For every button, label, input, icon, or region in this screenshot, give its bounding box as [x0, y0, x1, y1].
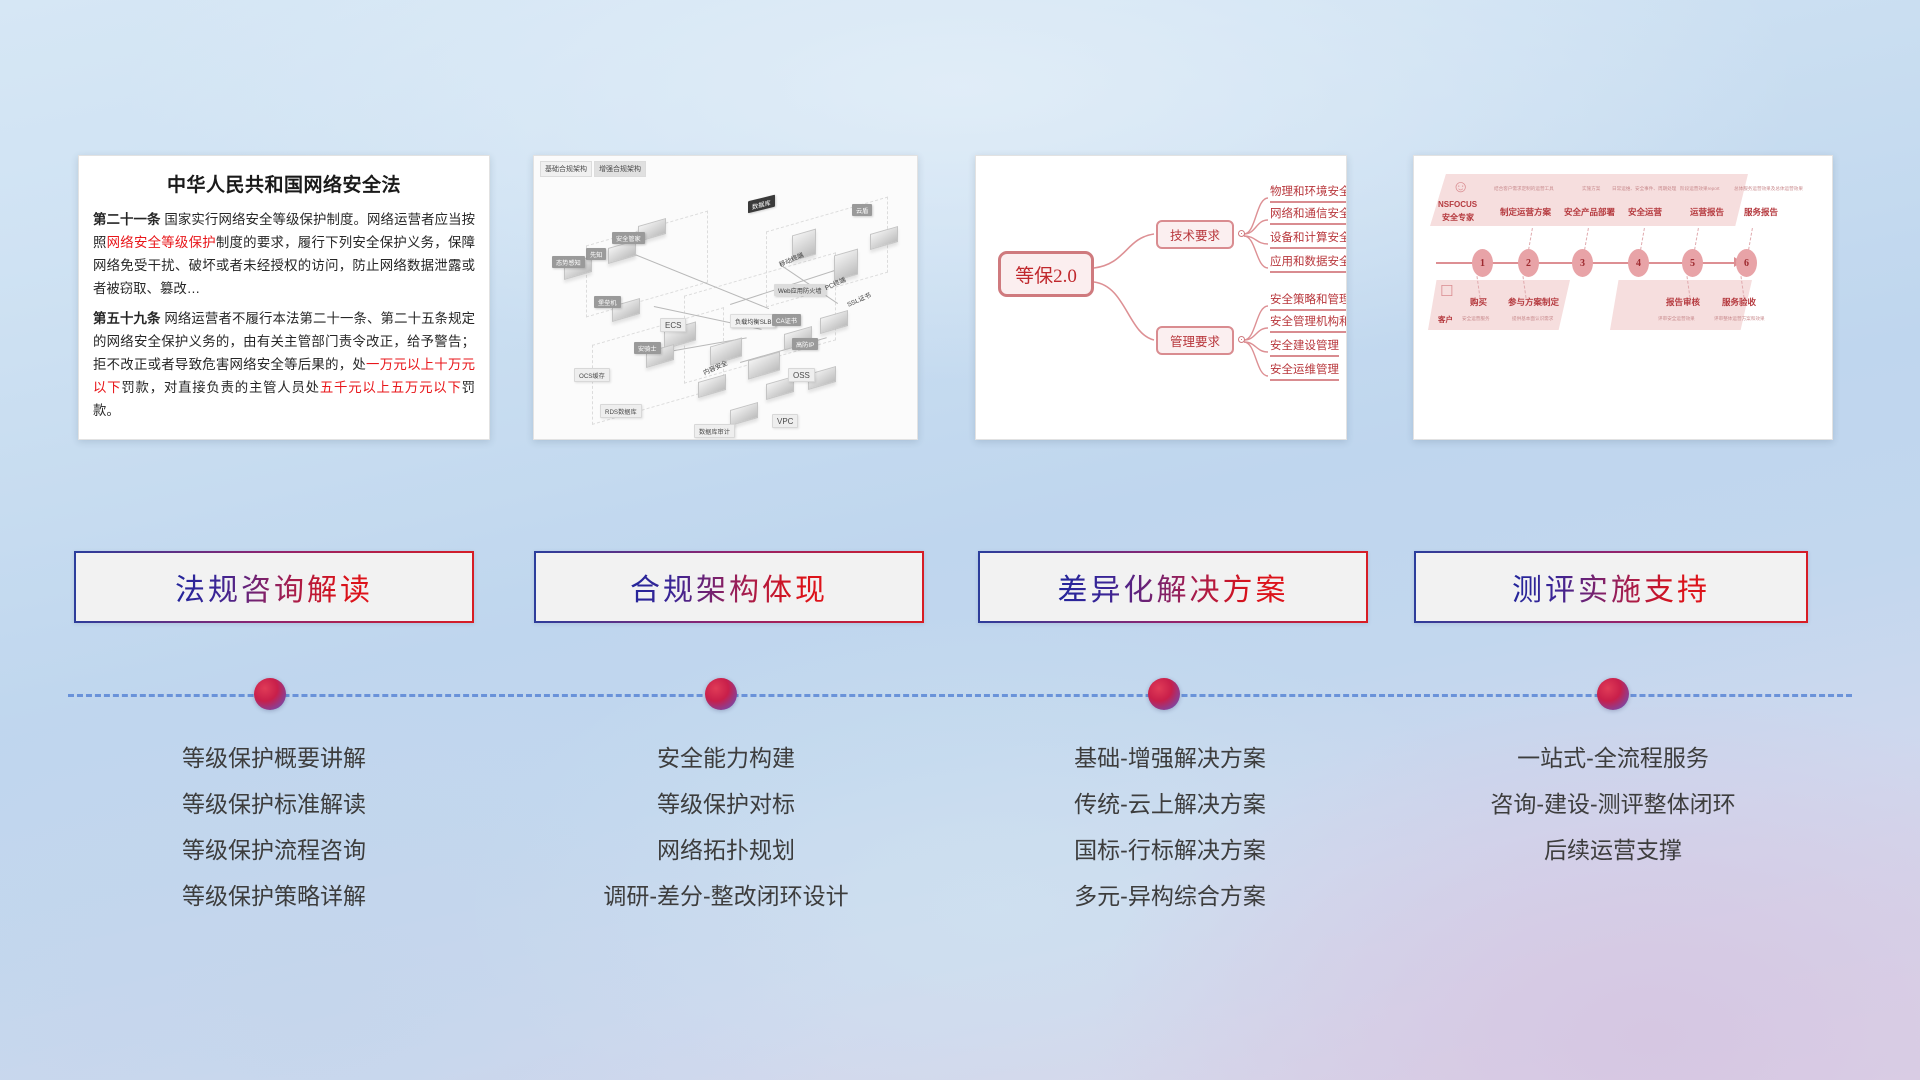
customer-avatar-icon: ☐	[1440, 284, 1453, 299]
rail-dot-4[interactable]	[1597, 678, 1629, 710]
timeline-connector	[1640, 228, 1646, 250]
plate-regulation-consulting[interactable]: 法规咨询解读	[74, 551, 474, 623]
architecture-tabs[interactable]: 基础合规架构 增强合规架构	[540, 161, 646, 177]
arch-node-label: SSL证书	[845, 289, 872, 308]
plate-label: 合规架构体现	[630, 565, 828, 609]
mindmap-card[interactable]: 等保2.0 技术要求 管理要求	[975, 155, 1347, 440]
architecture-canvas: 基础合规架构 增强合规架构	[534, 156, 917, 439]
timeline-step-sub: 评审整体运营方案和效果	[1714, 316, 1765, 322]
arch-node-label: ECS	[660, 318, 686, 332]
mindmap-branch-management[interactable]: 管理要求	[1156, 326, 1234, 355]
arch-node-label: 云盾	[852, 204, 872, 216]
law-card[interactable]: 中华人民共和国网络安全法 第二十一条 国家实行网络安全等级保护制度。网络运营者应…	[78, 155, 490, 440]
arch-node-label: OSS	[788, 368, 815, 382]
timeline-step-main: 服务报告	[1744, 206, 1778, 218]
timeline-connector	[1748, 228, 1754, 250]
arch-node-label: 高防IP	[792, 338, 818, 350]
timeline-step-sub: 总体服务运营效果及总体运营效果	[1734, 186, 1803, 192]
mindmap-canvas: 等保2.0 技术要求 管理要求	[976, 156, 1346, 439]
mindmap-leaf[interactable]: 安全建设管理	[1270, 340, 1339, 357]
timeline-connector	[1694, 228, 1700, 250]
list-item: 等级保护标准解读	[74, 781, 474, 827]
list-item: 一站式-全流程服务	[1413, 735, 1813, 781]
list-item: 安全能力构建	[526, 735, 926, 781]
mindmap-branch-technical[interactable]: 技术要求	[1156, 220, 1234, 249]
timeline-step-main: 参与方案制定	[1508, 296, 1559, 308]
arch-node-label: 安骑士	[634, 342, 661, 354]
rail-dot-2[interactable]	[705, 678, 737, 710]
timeline-step-sub: 评审安全运营效果	[1658, 316, 1695, 322]
list-item: 等级保护流程咨询	[74, 827, 474, 873]
column-1-list: 等级保护概要讲解 等级保护标准解读 等级保护流程咨询 等级保护策略详解	[74, 735, 474, 919]
timeline-node[interactable]: 5	[1682, 249, 1703, 277]
mindmap-leaf[interactable]: 安全管理机构和人员	[1270, 316, 1347, 333]
timeline-step-sub: 日常运维、安全事件、周期处理	[1612, 186, 1676, 192]
rail-dot-3[interactable]	[1148, 678, 1180, 710]
column-4-list: 一站式-全流程服务 咨询-建设-测评整体闭环 后续运营支撑	[1413, 735, 1813, 873]
column-2-list: 安全能力构建 等级保护对标 网络拓扑规划 调研-差分-整改闭环设计	[526, 735, 926, 919]
plate-assessment-support[interactable]: 测评实施支持	[1414, 551, 1808, 623]
architecture-tab-basic[interactable]: 基础合规架构	[540, 161, 592, 177]
timeline-step-main: 制定运营方案	[1500, 206, 1551, 218]
timeline-node[interactable]: 3	[1572, 249, 1593, 277]
list-item: 基础-增强解决方案	[970, 735, 1370, 781]
timeline-step-sub: 安全运营服务	[1462, 316, 1490, 322]
timeline-step-main: 购买	[1470, 296, 1487, 308]
mindmap-branch-label: 管理要求	[1170, 331, 1220, 350]
expert-name-line1: NSFOCUS	[1438, 200, 1477, 209]
law-run-2-3: 五千元以上五万元以下	[320, 380, 462, 395]
arch-node-label: 安全管家	[612, 232, 645, 244]
timeline-card[interactable]: ☺ NSFOCUS 安全专家 结合客户需求定制的运营工具 制定运营方案 实施方案…	[1413, 155, 1833, 440]
arch-node-label: 堡垒机	[594, 296, 621, 308]
list-item: 国标-行标解决方案	[970, 827, 1370, 873]
mindmap-leaf[interactable]: 网络和通信安全	[1270, 208, 1347, 225]
timeline-step-main: 服务验收	[1722, 296, 1756, 308]
timeline-step-main: 安全运营	[1628, 206, 1662, 218]
law-run-2-2: 罚款，对直接负责的主管人员处	[121, 380, 319, 395]
list-item: 后续运营支撑	[1413, 827, 1813, 873]
timeline-node[interactable]: 1	[1472, 249, 1493, 277]
arch-node-label: VPC	[772, 414, 798, 428]
customer-name: 客户	[1438, 314, 1453, 325]
law-paragraph-2: 第五十九条 网络运营者不履行本法第二十一条、第二十五条规定的网络安全保护义务的，…	[93, 307, 475, 422]
list-item: 咨询-建设-测评整体闭环	[1413, 781, 1813, 827]
arch-node-label: 先知	[586, 248, 606, 260]
arch-node-label: 负载均衡SLB	[730, 314, 776, 328]
iso-cube	[730, 402, 758, 426]
law-run-1-1: 网络安全等级保护	[107, 235, 216, 250]
arch-node-label: 数据库审计	[694, 424, 735, 438]
timeline-canvas: ☺ NSFOCUS 安全专家 结合客户需求定制的运营工具 制定运营方案 实施方案…	[1414, 156, 1832, 439]
timeline-step-sub: 结合客户需求定制的运营工具	[1494, 186, 1554, 192]
list-item: 传统-云上解决方案	[970, 781, 1370, 827]
timeline-top-band	[1430, 174, 1748, 226]
timeline-step-main: 安全产品部署	[1564, 206, 1615, 218]
expert-name-line2: 安全专家	[1442, 212, 1474, 223]
timeline-step-sub: 实施方案	[1582, 186, 1600, 192]
mindmap-collapse-icon[interactable]	[1238, 336, 1245, 343]
plate-label: 法规咨询解读	[175, 565, 373, 609]
architecture-card[interactable]: 基础合规架构 增强合规架构	[533, 155, 918, 440]
mindmap-collapse-icon[interactable]	[1238, 230, 1245, 237]
list-item: 等级保护策略详解	[74, 873, 474, 919]
list-item: 调研-差分-整改闭环设计	[526, 873, 926, 919]
timeline-node[interactable]: 2	[1518, 249, 1539, 277]
expert-avatar-icon: ☺	[1452, 178, 1469, 195]
arch-node-label: 态势感知	[552, 256, 585, 268]
law-card-body: 第二十一条 国家实行网络安全等级保护制度。网络运营者应当按照网络安全等级保护制度…	[79, 208, 489, 422]
law-article-label-1: 第二十一条	[93, 212, 161, 227]
arch-node-label: RDS数据库	[600, 404, 642, 418]
arch-node-label: OCS缓存	[574, 368, 610, 382]
list-item: 多元-异构综合方案	[970, 873, 1370, 919]
timeline-step-sub: 提供基本面认识需求	[1512, 316, 1553, 322]
arch-node-label: 数据库	[748, 195, 775, 214]
arch-node-label: Web应用防火墙	[774, 284, 826, 296]
timeline-node[interactable]: 4	[1628, 249, 1649, 277]
timeline-node[interactable]: 6	[1736, 249, 1757, 277]
plate-label: 测评实施支持	[1512, 565, 1710, 609]
column-3-list: 基础-增强解决方案 传统-云上解决方案 国标-行标解决方案 多元-异构综合方案	[970, 735, 1370, 919]
mindmap-leaf[interactable]: 应用和数据安全	[1270, 256, 1347, 273]
law-article-label-2: 第五十九条	[93, 311, 161, 326]
list-item: 等级保护概要讲解	[74, 735, 474, 781]
timeline-step-sub: 阶段运营效果report	[1680, 186, 1720, 192]
mindmap-leaf[interactable]: 物理和环境安全	[1270, 186, 1347, 203]
plate-compliance-architecture[interactable]: 合规架构体现	[534, 551, 924, 623]
architecture-tab-enhanced[interactable]: 增强合规架构	[594, 161, 646, 177]
plate-differentiated-solution[interactable]: 差异化解决方案	[978, 551, 1368, 623]
arch-node-label: CA证书	[772, 314, 801, 326]
mindmap-leaf[interactable]: 安全策略和管理制度	[1270, 294, 1347, 311]
slide-root: 中华人民共和国网络安全法 第二十一条 国家实行网络安全等级保护制度。网络运营者应…	[0, 0, 1920, 1080]
timeline-step-main: 报告审核	[1666, 296, 1700, 308]
plate-label: 差异化解决方案	[1058, 565, 1289, 609]
law-card-title: 中华人民共和国网络安全法	[79, 170, 489, 197]
mindmap-branch-label: 技术要求	[1170, 225, 1220, 244]
list-item: 等级保护对标	[526, 781, 926, 827]
timeline-connector	[1584, 228, 1590, 250]
mindmap-leaf[interactable]: 安全运维管理	[1270, 364, 1339, 381]
timeline-step-main: 运营报告	[1690, 206, 1724, 218]
list-item: 网络拓扑规划	[526, 827, 926, 873]
timeline-rail	[68, 694, 1852, 697]
rail-dot-1[interactable]	[254, 678, 286, 710]
mindmap-leaf[interactable]: 设备和计算安全	[1270, 232, 1347, 249]
law-paragraph-1: 第二十一条 国家实行网络安全等级保护制度。网络运营者应当按照网络安全等级保护制度…	[93, 208, 475, 300]
timeline-connector	[1528, 228, 1534, 250]
